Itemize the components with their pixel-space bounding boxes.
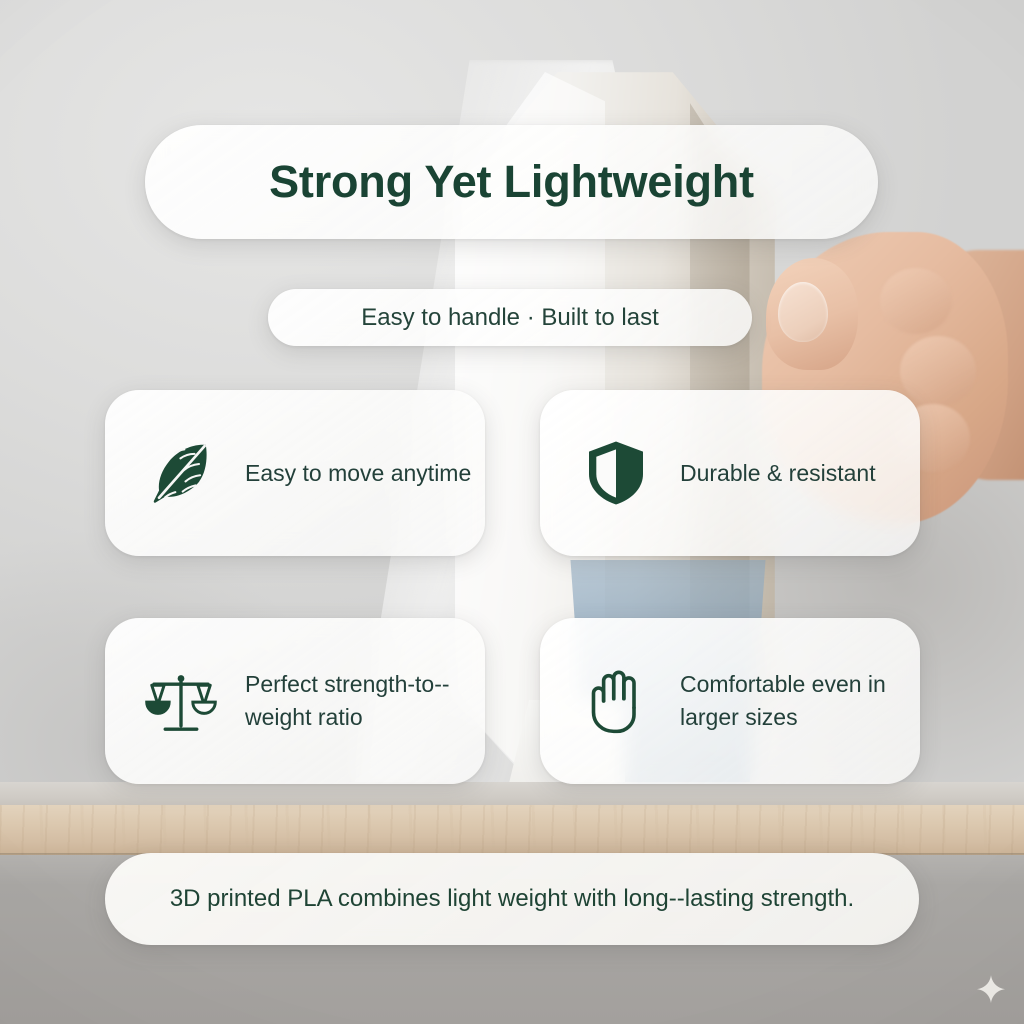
thumbnail bbox=[778, 282, 828, 342]
footer-banner: 3D printed PLA combines light weight wit… bbox=[105, 853, 919, 945]
feature-card-easy-to-move[interactable]: Easy to move anytime bbox=[105, 390, 485, 556]
feature-card-comfortable[interactable]: Comfortable even in larger sizes bbox=[540, 618, 920, 784]
feature-card-durable[interactable]: Durable & resistant bbox=[540, 390, 920, 556]
scales-icon bbox=[143, 663, 219, 739]
feather-icon bbox=[143, 435, 219, 511]
shield-icon bbox=[578, 435, 654, 511]
knuckle-2 bbox=[900, 336, 976, 406]
feature-card-strength-to-weight[interactable]: Perfect strength-to--weight ratio bbox=[105, 618, 485, 784]
feature-label: Durable & resistant bbox=[680, 457, 876, 490]
footer-text: 3D printed PLA combines light weight wit… bbox=[170, 882, 854, 917]
shelf-wood-grain bbox=[0, 805, 1024, 857]
sparkle-icon bbox=[974, 973, 1008, 1007]
feature-label: Perfect strength-to--weight ratio bbox=[245, 668, 475, 733]
subtitle-pill: Easy to handle · Built to last bbox=[268, 289, 752, 346]
feature-label: Comfortable even in larger sizes bbox=[680, 668, 910, 733]
knuckle-1 bbox=[880, 268, 952, 334]
feature-label: Easy to move anytime bbox=[245, 457, 471, 490]
page-title-pill: Strong Yet Lightweight bbox=[145, 125, 878, 239]
infographic-canvas: Strong Yet Lightweight Easy to handle · … bbox=[0, 0, 1024, 1024]
page-title: Strong Yet Lightweight bbox=[269, 156, 754, 208]
page-subtitle: Easy to handle · Built to last bbox=[361, 304, 659, 332]
hand-icon bbox=[578, 663, 654, 739]
